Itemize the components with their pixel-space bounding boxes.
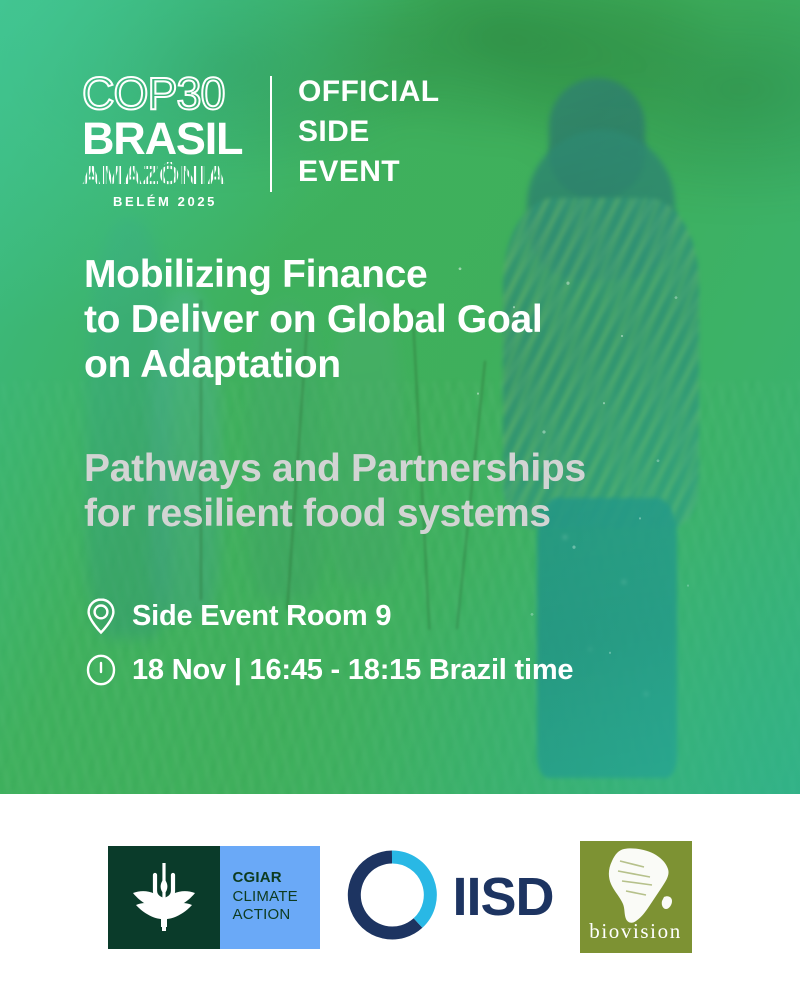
cgiar-text-line-2: CLIMATE: [232, 888, 320, 907]
cop30-wordmark: COP30: [82, 72, 248, 115]
partner-logo-biovision[interactable]: biovision: [580, 841, 692, 953]
badge-line-event: EVENT: [298, 152, 440, 192]
partner-logo-iisd[interactable]: IISD: [346, 849, 553, 946]
hero-content: COP30 BRASIL AMAZÔNIA BELÉM 2025 OFFICIA…: [0, 0, 800, 794]
clock-icon: [84, 650, 118, 690]
subtitle-line-1: Pathways and Partnerships: [84, 446, 744, 491]
event-title: Mobilizing Finance to Deliver on Global …: [84, 252, 724, 388]
hero-banner: COP30 BRASIL AMAZÔNIA BELÉM 2025 OFFICIA…: [0, 0, 800, 794]
title-line-3: on Adaptation: [84, 342, 724, 387]
event-location-text: Side Event Room 9: [132, 600, 391, 633]
iisd-circle-icon: [346, 849, 438, 946]
event-subtitle: Pathways and Partnerships for resilient …: [84, 446, 744, 536]
iisd-wordmark: IISD: [452, 866, 553, 928]
partner-logos: CGIAR CLIMATE ACTION IISD: [108, 841, 691, 953]
biovision-wordmark: biovision: [580, 919, 692, 944]
vertical-divider: [270, 76, 272, 192]
cgiar-text-line-3: ACTION: [232, 906, 320, 925]
official-side-event-badge: OFFICIAL SIDE EVENT: [298, 72, 440, 193]
partner-logo-cgiar[interactable]: CGIAR CLIMATE ACTION: [108, 846, 320, 949]
event-location-row: Side Event Room 9: [84, 596, 573, 636]
badge-line-official: OFFICIAL: [298, 72, 440, 112]
event-datetime-text: 18 Nov | 16:45 - 18:15 Brazil time: [132, 654, 573, 687]
partner-logo-footer: CGIAR CLIMATE ACTION IISD: [0, 794, 800, 1000]
title-line-2: to Deliver on Global Goal: [84, 297, 724, 342]
brasil-wordmark: BRASIL: [82, 117, 248, 160]
badge-line-side: SIDE: [298, 112, 440, 152]
event-datetime-row: 18 Nov | 16:45 - 18:15 Brazil time: [84, 650, 573, 690]
amazonia-wordmark: AMAZÔNIA: [82, 162, 248, 188]
belem-2025-label: BELÉM 2025: [82, 194, 248, 209]
cgiar-text-line-1: CGIAR: [232, 869, 320, 888]
cgiar-wheat-icon: [108, 846, 220, 949]
event-poster: COP30 BRASIL AMAZÔNIA BELÉM 2025 OFFICIA…: [0, 0, 800, 1000]
cop30-logo: COP30 BRASIL AMAZÔNIA BELÉM 2025: [82, 72, 248, 209]
branding-row: COP30 BRASIL AMAZÔNIA BELÉM 2025 OFFICIA…: [82, 72, 440, 209]
location-pin-icon: [84, 596, 118, 636]
title-line-1: Mobilizing Finance: [84, 252, 724, 297]
cgiar-wordmark: CGIAR CLIMATE ACTION: [220, 846, 320, 949]
subtitle-line-2: for resilient food systems: [84, 491, 744, 536]
event-details: Side Event Room 9 18 Nov | 16:45 - 18:15…: [84, 596, 573, 704]
